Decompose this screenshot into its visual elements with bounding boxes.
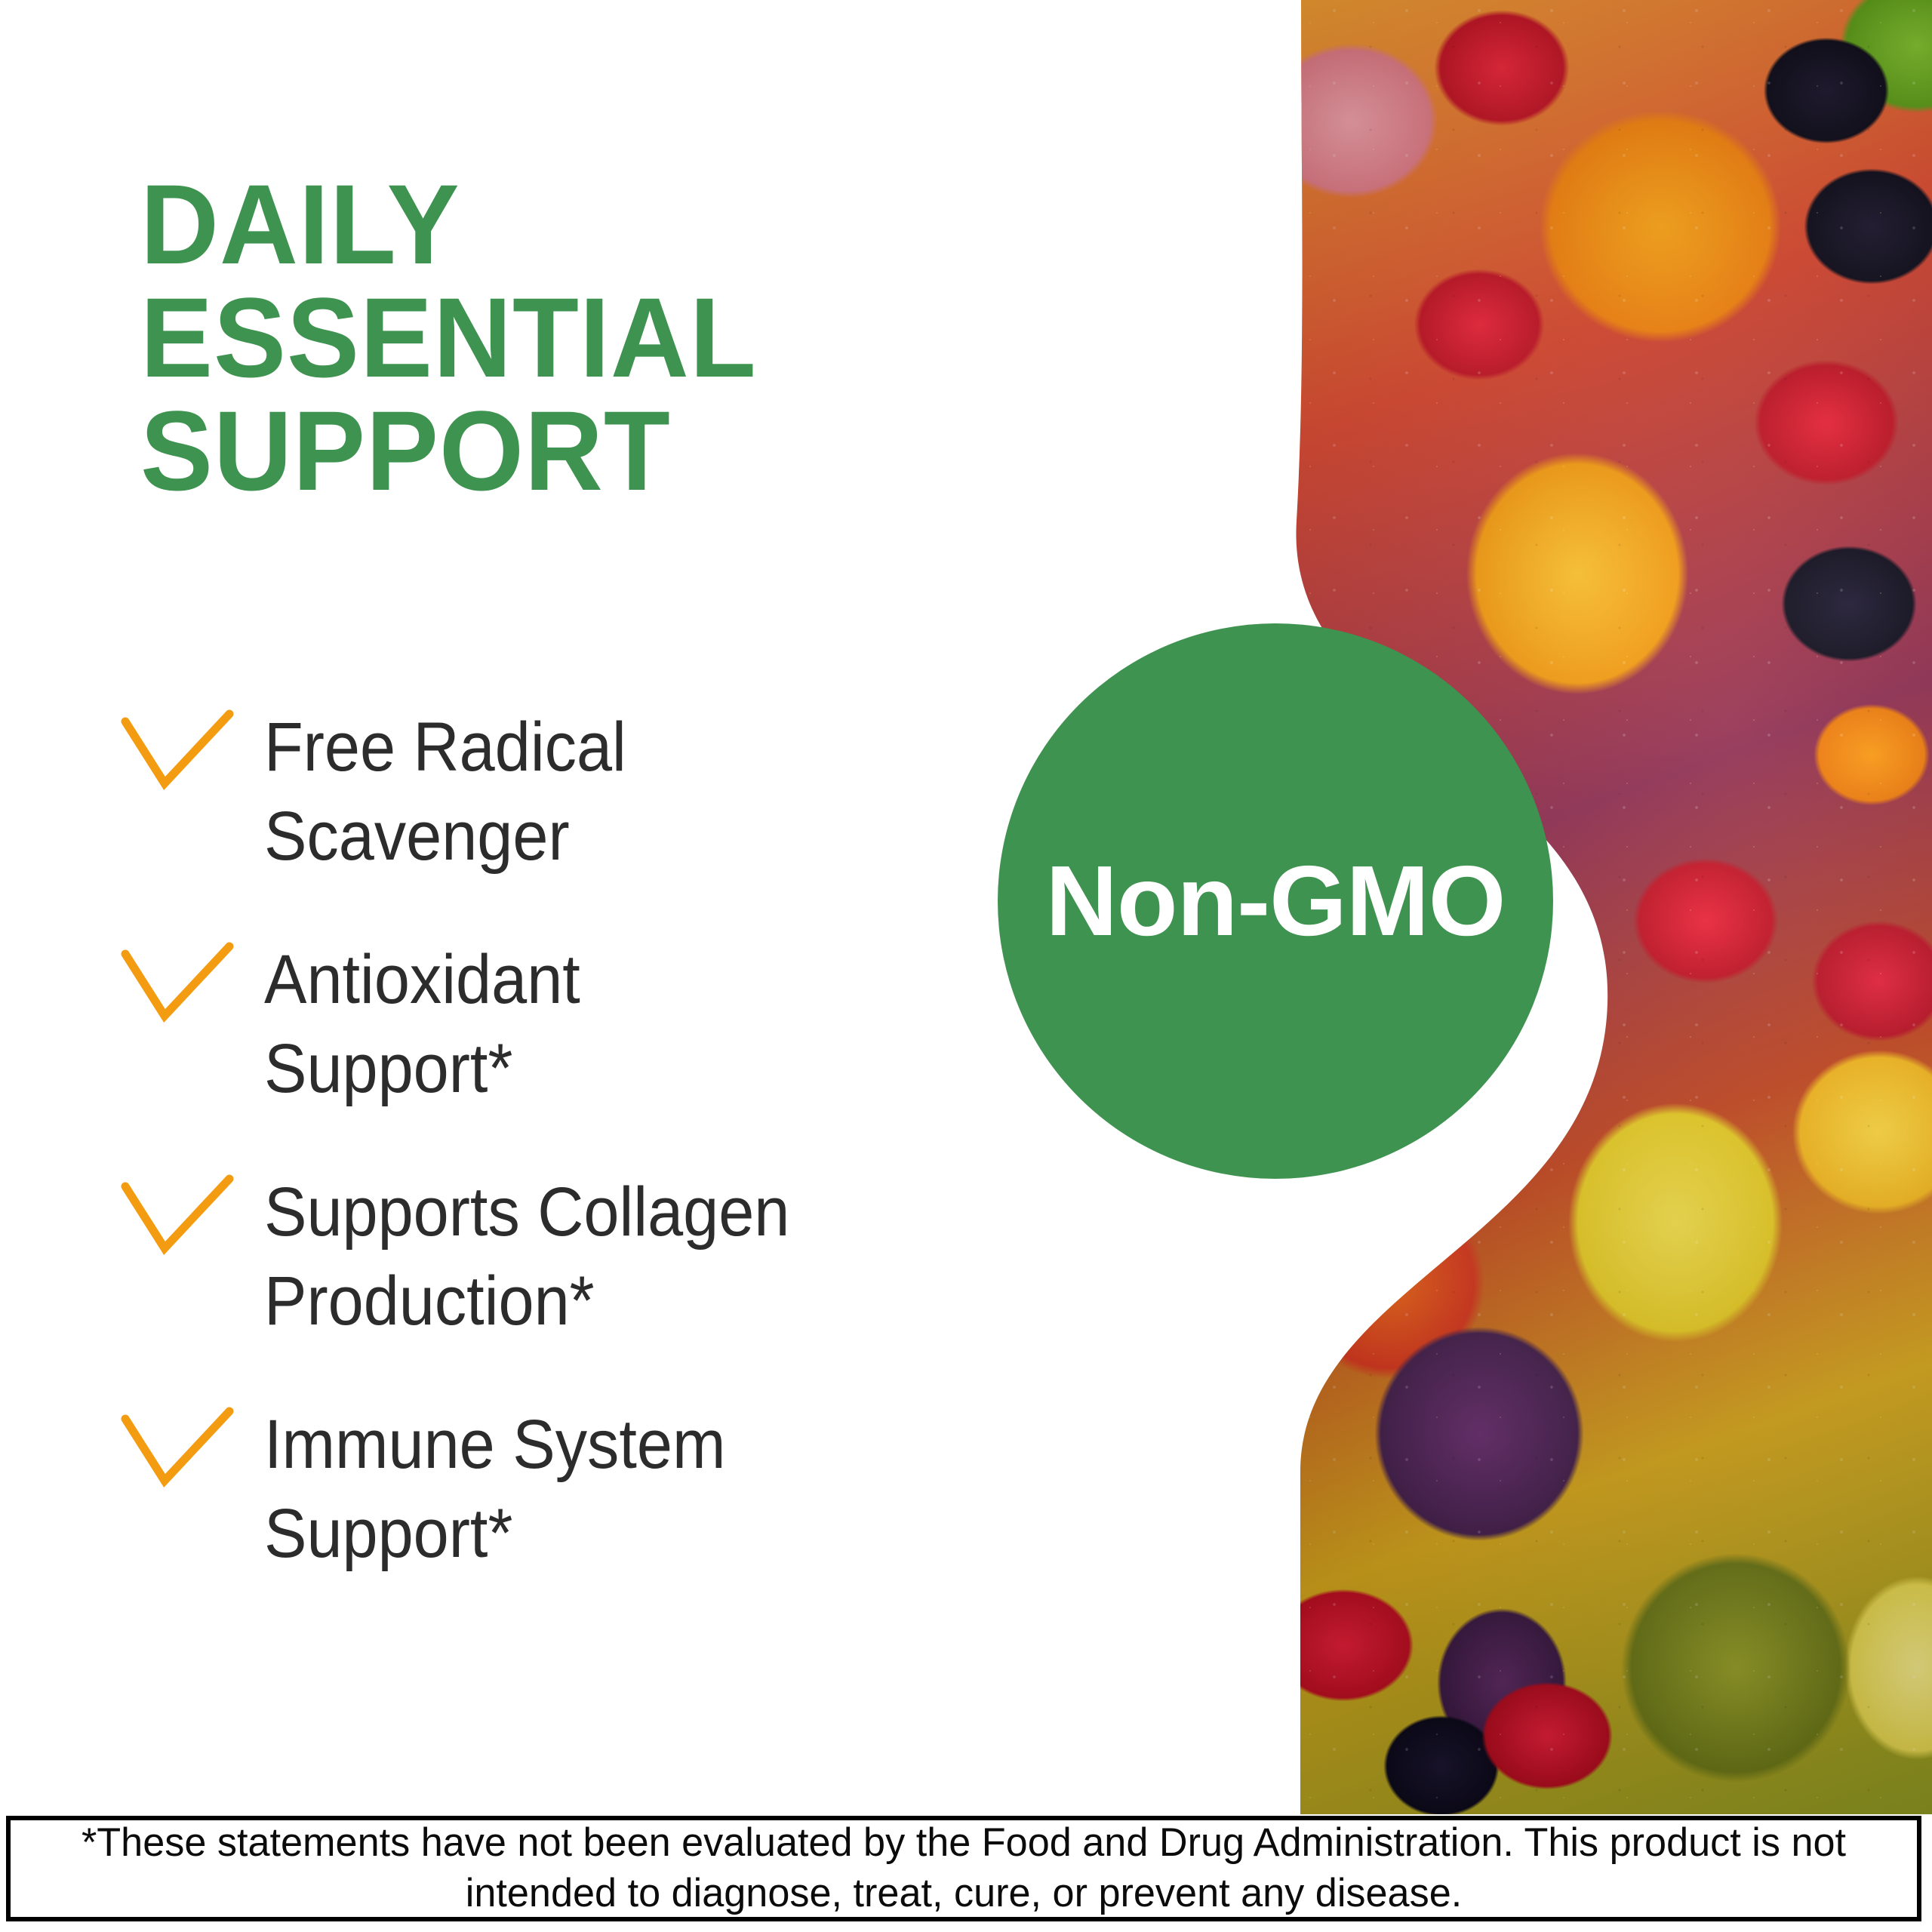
disclaimer-text: *These statements have not been evaluate…: [25, 1818, 1903, 1919]
orange-checkmark-icon: [121, 1174, 234, 1265]
list-item: Antioxidant Support*: [121, 934, 1117, 1123]
benefits-list: Free Radical Scavenger Antioxidant Suppo…: [121, 702, 1117, 1632]
list-item-label: Supports Collagen Production*: [264, 1167, 1049, 1346]
non-gmo-badge-label: Non-GMO: [1046, 851, 1506, 951]
list-item: Immune System Support*: [121, 1399, 1117, 1588]
disclaimer-box: *These statements have not been evaluate…: [6, 1816, 1921, 1921]
list-item-label: Immune System Support*: [264, 1399, 1049, 1579]
list-item-label: Free Radical Scavenger: [264, 702, 1049, 881]
orange-checkmark-icon: [121, 1407, 234, 1497]
list-item-label: Antioxidant Support*: [264, 934, 1049, 1114]
non-gmo-badge: Non-GMO: [998, 623, 1553, 1179]
checkmark-cell: [121, 702, 264, 800]
checkmark-cell: [121, 1167, 264, 1265]
product-benefits-poster: DAILY ESSENTIAL SUPPORT Free Radical Sca…: [0, 0, 1932, 1932]
checkmark-cell: [121, 1399, 264, 1497]
orange-checkmark-icon: [121, 942, 234, 1032]
list-item: Free Radical Scavenger: [121, 702, 1117, 891]
orange-checkmark-icon: [121, 709, 234, 800]
list-item: Supports Collagen Production*: [121, 1167, 1117, 1355]
page-title: DAILY ESSENTIAL SUPPORT: [140, 168, 1010, 507]
checkmark-cell: [121, 934, 264, 1032]
